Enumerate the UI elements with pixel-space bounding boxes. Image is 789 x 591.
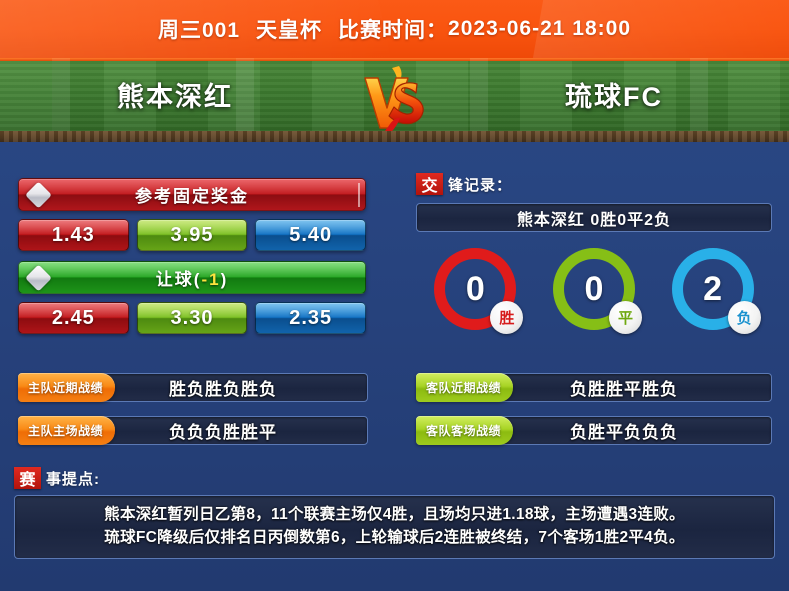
kickoff-label: 比赛时间：	[338, 14, 448, 44]
h2h-ring-loss: 2 负	[672, 248, 754, 330]
away-away-form-value: 负胜平负负负	[416, 416, 772, 445]
handicap-odds-row: 2.45 3.30 2.35	[18, 302, 366, 334]
away-away-form-row: 客队客场战绩 负胜平负负负	[416, 416, 772, 445]
tips-line-2: 琉球FC降级后仅排名日丙倒数第6，上轮输球后2连胜被终结，7个客场1胜2平4负。	[23, 526, 766, 549]
handicap-suffix: )	[221, 270, 229, 289]
vs-icon	[347, 62, 443, 142]
home-recent-form-value: 胜负胜负胜负	[18, 373, 368, 402]
handicap-odd-home[interactable]: 2.45	[18, 302, 129, 334]
home-home-form-row: 主队主场战绩 负负负胜胜平	[18, 416, 368, 445]
home-team-name: 熊本深红	[0, 58, 350, 131]
h2h-draw-tag: 平	[609, 301, 642, 334]
handicap-odd-draw[interactable]: 3.30	[137, 302, 248, 334]
fixed-odd-draw[interactable]: 3.95	[137, 219, 248, 251]
fixed-odd-home-value: 1.43	[52, 224, 95, 247]
handicap-title: 让球(-1)	[156, 265, 228, 290]
h2h-ring-win: 0 胜	[434, 248, 516, 330]
handicap-prefix: 让球(	[156, 270, 202, 289]
away-team-name: 琉球FC	[439, 58, 789, 131]
h2h-rings: 0 胜 0 平 2 负	[416, 248, 772, 330]
handicap-odd-draw-value: 3.30	[171, 307, 214, 330]
match-preview-card: 周三001 天皇杯 比赛时间： 2023-06-21 18:00 熊本深红	[0, 0, 789, 591]
home-home-form-value: 负负负胜胜平	[18, 416, 368, 445]
h2h-loss-tag: 负	[728, 301, 761, 334]
kickoff-time: 2023-06-21 18:00	[448, 17, 631, 41]
handicap-value: -1	[201, 270, 220, 289]
away-recent-form-value: 负胜胜平胜负	[416, 373, 772, 402]
diamond-icon	[25, 264, 52, 291]
h2h-heading-text: 锋记录：	[448, 174, 512, 195]
home-form-group: 主队近期战绩 胜负胜负胜负 主队主场战绩 负负负胜胜平	[18, 373, 368, 459]
fixed-odds-title-bar: 参考固定奖金	[18, 178, 366, 211]
diamond-icon	[25, 181, 52, 208]
fixed-odd-draw-value: 3.95	[171, 224, 214, 247]
competition-name: 天皇杯	[256, 14, 322, 44]
match-number: 周三001	[158, 14, 240, 44]
header-title: 周三001 天皇杯 比赛时间： 2023-06-21 18:00	[0, 0, 789, 58]
h2h-ring-draw: 0 平	[553, 248, 635, 330]
handicap-odd-away[interactable]: 2.35	[255, 302, 366, 334]
teams-banner: 熊本深红	[0, 58, 789, 142]
away-form-group: 客队近期战绩 负胜胜平胜负 客队客场战绩 负胜平负负负	[416, 373, 772, 459]
handicap-odd-away-value: 2.35	[289, 307, 332, 330]
handicap-title-bar: 让球(-1)	[18, 261, 366, 294]
handicap-odd-home-value: 2.45	[52, 307, 95, 330]
fixed-odd-away[interactable]: 5.40	[255, 219, 366, 251]
h2h-badge-icon: 交	[416, 173, 443, 195]
home-recent-form-row: 主队近期战绩 胜负胜负胜负	[18, 373, 368, 402]
tips-heading: 赛 事提点:	[14, 466, 775, 490]
h2h-heading: 交 锋记录：	[416, 172, 772, 196]
h2h-summary: 熊本深红 0胜0平2负	[416, 203, 772, 232]
tips-heading-text: 事提点:	[46, 468, 100, 489]
fixed-odd-away-value: 5.40	[289, 224, 332, 247]
odds-panel: 参考固定奖金 1.43 3.95 5.40 让球(-1) 2.45 3.30 2…	[18, 178, 366, 334]
tips-badge-icon: 赛	[14, 467, 41, 489]
fixed-odds-row: 1.43 3.95 5.40	[18, 219, 366, 251]
header-bar: 周三001 天皇杯 比赛时间： 2023-06-21 18:00	[0, 0, 789, 58]
fixed-odd-home[interactable]: 1.43	[18, 219, 129, 251]
pitch-edge	[0, 131, 789, 142]
away-recent-form-row: 客队近期战绩 负胜胜平胜负	[416, 373, 772, 402]
head-to-head-panel: 交 锋记录： 熊本深红 0胜0平2负 0 胜 0 平 2 负	[416, 172, 772, 330]
fixed-odds-title: 参考固定奖金	[135, 182, 249, 207]
h2h-win-tag: 胜	[490, 301, 523, 334]
tips-line-1: 熊本深红暂列日乙第8，11个联赛主场仅4胜，且场均只进1.18球，主场遭遇3连败…	[23, 503, 766, 526]
match-tips-section: 赛 事提点: 熊本深红暂列日乙第8，11个联赛主场仅4胜，且场均只进1.18球，…	[14, 466, 775, 559]
tips-box: 熊本深红暂列日乙第8，11个联赛主场仅4胜，且场均只进1.18球，主场遭遇3连败…	[14, 495, 775, 559]
